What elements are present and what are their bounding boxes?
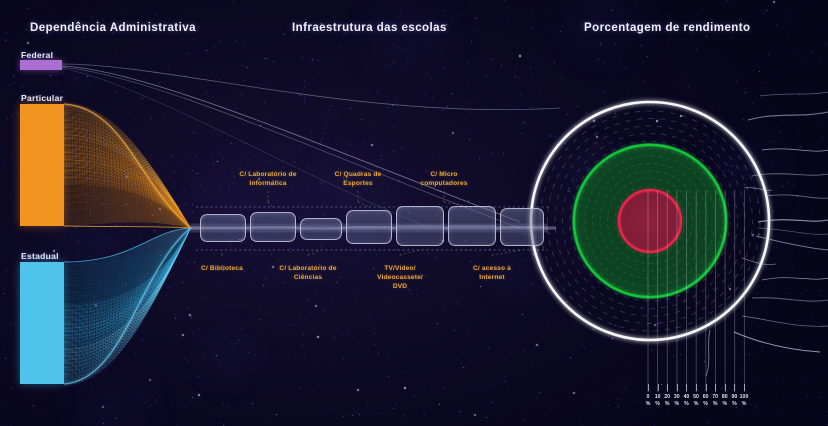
infrastructure-box-4[interactable] — [346, 210, 392, 244]
axis-tick-100 — [744, 384, 745, 391]
infrastructure-box-3[interactable] — [300, 218, 342, 240]
infrastructure-label-top-3: C/ Micro computadores — [401, 170, 487, 188]
page-title-dependencia: Dependência Administrativa — [30, 22, 196, 34]
axis-tick-70 — [715, 384, 716, 391]
category-label-federal: Federal — [21, 50, 53, 60]
page-title-rendimento: Porcentagem de rendimento — [584, 22, 751, 34]
infrastructure-box-7[interactable] — [500, 208, 544, 246]
infrastructure-label-top-2: C/ Quadras de Esportes — [315, 170, 401, 188]
axis-tick-10 — [658, 384, 659, 391]
category-label-particular: Particular — [21, 93, 63, 103]
infrastructure-box-5[interactable] — [396, 206, 444, 246]
axis-unit-100: % — [735, 401, 753, 407]
visualization-canvas: Dependência Administrativa Infraestrutur… — [0, 0, 828, 426]
infrastructure-label-bottom-1: C/ Biblioteca — [179, 264, 265, 273]
category-bar-federal[interactable] — [20, 60, 62, 70]
infrastructure-label-bottom-2: C/ Laboratório de Ciências — [265, 264, 351, 282]
axis-tick-80 — [725, 384, 726, 391]
infrastructure-label-top-1: C/ Laboratório de Informática — [225, 170, 311, 188]
infrastructure-label-bottom-4: C/ acesso à Internet — [449, 264, 535, 282]
axis-tick-90 — [734, 384, 735, 391]
infrastructure-box-6[interactable] — [448, 206, 496, 246]
axis-tick-30 — [677, 384, 678, 391]
axis-tick-50 — [696, 384, 697, 391]
axis-tick-60 — [706, 384, 707, 391]
infrastructure-box-1[interactable] — [200, 214, 246, 242]
axis-tick-0 — [648, 384, 649, 391]
category-label-estadual: Estadual — [21, 251, 59, 261]
category-bar-estadual[interactable] — [20, 262, 64, 384]
axis-label-100: 100 — [735, 394, 753, 400]
infrastructure-box-2[interactable] — [250, 212, 296, 242]
infrastructure-label-bottom-3: TV/Vídeo/ Videocassete/ DVD — [357, 264, 443, 291]
axis-tick-40 — [686, 384, 687, 391]
axis-tick-20 — [667, 384, 668, 391]
category-bar-particular[interactable] — [20, 104, 64, 226]
page-title-infraestrutura: Infraestrutura das escolas — [292, 22, 447, 34]
